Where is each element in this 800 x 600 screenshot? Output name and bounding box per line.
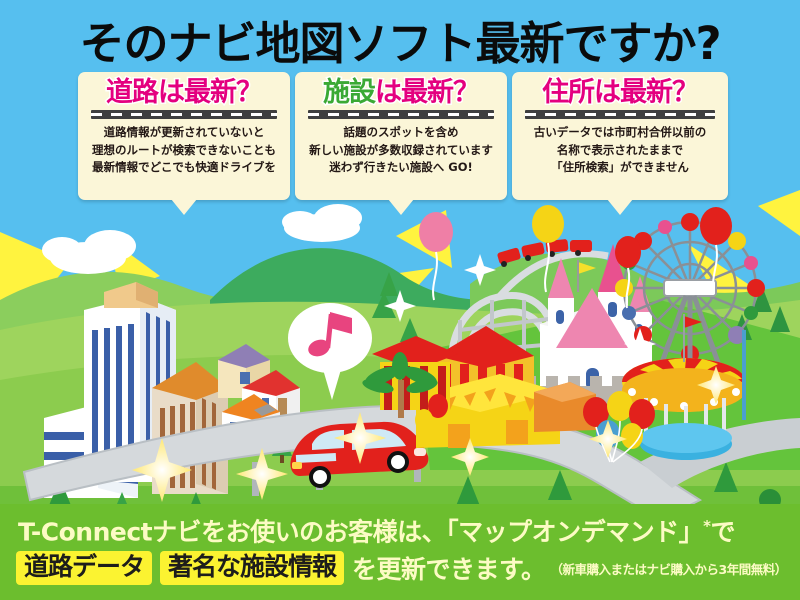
callout-facility-body: 話題のスポットを含め 新しい施設が多数収録されています 迷わず行きたい施設へ G… bbox=[309, 124, 493, 176]
bottom-banner: T-Connectナビをお使いのお客様は、「マップオンデマンド」*で 道路データ… bbox=[0, 504, 800, 600]
road-divider-icon bbox=[525, 110, 715, 119]
callout-facility[interactable]: 施設は最新？ 話題のスポットを含め 新しい施設が多数収録されています 迷わず行き… bbox=[295, 72, 507, 200]
callout-road-title: 道路は最新？ bbox=[106, 78, 262, 107]
road-divider-icon bbox=[308, 110, 495, 119]
page-headline: そのナビ地図ソフト最新ですか? bbox=[0, 8, 800, 70]
chip-road-data[interactable]: 道路データ bbox=[16, 551, 152, 585]
callout-road-line-3: 最新情報でどこでも快適ドライブを bbox=[92, 159, 276, 176]
poster-root: そのナビ地図ソフト最新ですか? 道路は最新？ 道路情報が更新されていないと 理想… bbox=[0, 0, 800, 600]
banner-line-2: 道路データ 著名な施設情報 を更新できます。 （新車購入またはナビ購入から3年間… bbox=[0, 550, 800, 586]
callout-address-line-1: 古いデータでは市町村合併以前の bbox=[534, 124, 707, 141]
callout-road[interactable]: 道路は最新？ 道路情報が更新されていないと 理想のルートが検索できないことも 最… bbox=[78, 72, 290, 200]
callout-facility-title: 施設は最新？ bbox=[323, 78, 479, 107]
callout-facility-line-2: 新しい施設が多数収録されています bbox=[309, 142, 493, 159]
callout-road-body: 道路情報が更新されていないと 理想のルートが検索できないことも 最新情報でどこで… bbox=[92, 124, 276, 176]
callout-address-line-2: 名称で表示されたままで bbox=[534, 142, 707, 159]
callout-address-body: 古いデータでは市町村合併以前の 名称で表示されたままで 「住所検索」ができません bbox=[534, 124, 707, 176]
callout-road-title-rest: は最新？ bbox=[158, 77, 262, 108]
callout-address-title-rest: は最新？ bbox=[594, 77, 698, 108]
callout-road-line-2: 理想のルートが検索できないことも bbox=[92, 142, 276, 159]
callout-address-line-3: 「住所検索」ができません bbox=[534, 159, 707, 176]
road-divider-icon bbox=[91, 110, 278, 119]
banner-line-2-tail: を更新できます。 bbox=[352, 550, 546, 586]
callout-address[interactable]: 住所は最新？ 古いデータでは市町村合併以前の 名称で表示されたままで 「住所検索… bbox=[512, 72, 728, 200]
callout-facility-title-rest: は最新？ bbox=[375, 77, 479, 108]
callout-road-title-keyword: 道路 bbox=[106, 77, 158, 108]
callout-road-line-1: 道路情報が更新されていないと bbox=[92, 124, 276, 141]
banner-line-1-suffix: で bbox=[710, 517, 735, 546]
callout-facility-title-keyword: 施設 bbox=[323, 77, 375, 108]
banner-footnote: （新車購入またはナビ購入から3年間無料） bbox=[551, 559, 787, 578]
banner-line-1-text: T-Connectナビをお使いのお客様は、「マップオンデマンド」 bbox=[18, 517, 703, 546]
callout-group: 道路は最新？ 道路情報が更新されていないと 理想のルートが検索できないことも 最… bbox=[0, 72, 800, 212]
callout-address-title-keyword: 住所 bbox=[542, 77, 594, 108]
chip-facility-info[interactable]: 著名な施設情報 bbox=[160, 551, 344, 585]
banner-line-1: T-Connectナビをお使いのお客様は、「マップオンデマンド」*で bbox=[0, 518, 800, 546]
callout-facility-line-1: 話題のスポットを含め bbox=[309, 124, 493, 141]
callout-facility-line-3: 迷わず行きたい施設へ GO! bbox=[309, 159, 493, 176]
callout-address-title: 住所は最新？ bbox=[542, 78, 698, 107]
